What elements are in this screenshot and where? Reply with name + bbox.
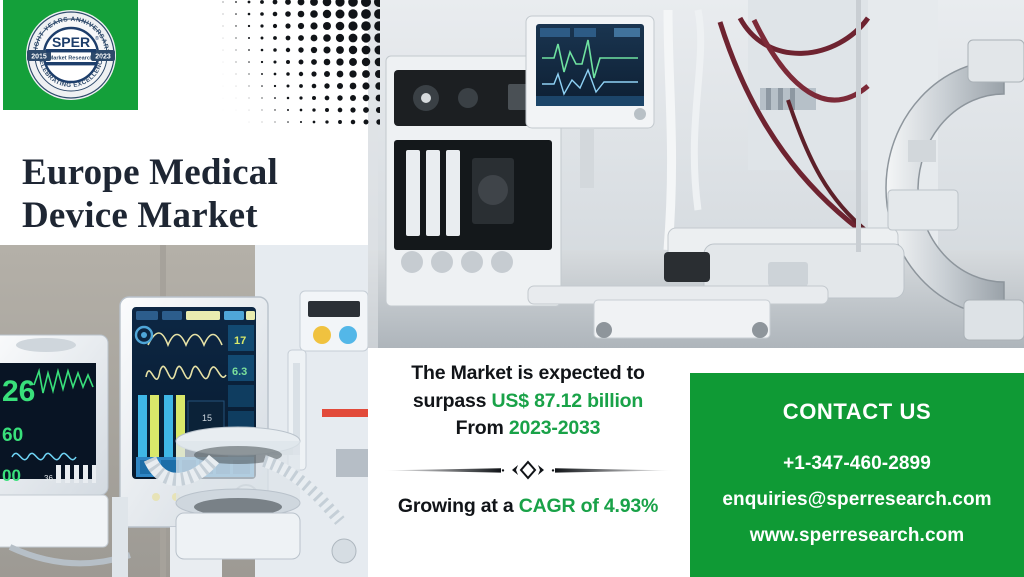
page-title-line-2: Device Market bbox=[22, 195, 258, 236]
svg-text:15: 15 bbox=[202, 413, 212, 423]
svg-text:6.3: 6.3 bbox=[232, 366, 247, 378]
page-title: Europe Medical Device Market bbox=[22, 151, 322, 238]
forecast-period: 2023-2033 bbox=[509, 417, 600, 439]
stat-line-3-prefix: From bbox=[456, 417, 509, 439]
stat-line-3: From 2023-2033 bbox=[378, 415, 678, 443]
stat-line-1: The Market is expected to bbox=[378, 360, 678, 388]
halftone-dot-decoration bbox=[215, 0, 380, 129]
poster-canvas: 2015 2023 EIGHT YEARS ANNIVERSARY CELEBR… bbox=[0, 0, 1024, 577]
market-stats-block: The Market is expected to surpass US$ 87… bbox=[378, 360, 678, 518]
badge-brand-name: SPER bbox=[51, 34, 89, 50]
page-title-line-1: Europe Medical bbox=[22, 152, 278, 193]
patient-monitor-photo: 17 6.3 15 26 60 bbox=[0, 245, 368, 577]
badge-registered-icon: ® bbox=[95, 35, 99, 42]
cagr-value: CAGR of 4.93% bbox=[519, 495, 658, 517]
medical-equipment-photo bbox=[368, 0, 1024, 348]
stat-line-2: surpass US$ 87.12 billion bbox=[378, 388, 678, 416]
contact-phone[interactable]: +1-347-460-2899 bbox=[783, 453, 931, 475]
contact-panel: CONTACT US +1-347-460-2899 enquiries@spe… bbox=[690, 373, 1024, 577]
stat-line-2-prefix: surpass bbox=[413, 390, 492, 412]
sper-logo-block: 2015 2023 EIGHT YEARS ANNIVERSARY CELEBR… bbox=[3, 0, 138, 110]
cagr-line: Growing at a CAGR of 4.93% bbox=[378, 495, 678, 518]
svg-text:00: 00 bbox=[2, 466, 21, 485]
svg-text:60: 60 bbox=[2, 425, 23, 446]
cagr-prefix: Growing at a bbox=[398, 495, 519, 517]
badge-brand-subtitle: Market Research bbox=[48, 56, 93, 62]
market-value: US$ 87.12 billion bbox=[492, 390, 644, 412]
anniversary-badge-icon: 2015 2023 EIGHT YEARS ANNIVERSARY CELEBR… bbox=[25, 9, 117, 101]
svg-text:36: 36 bbox=[44, 474, 53, 483]
svg-text:17: 17 bbox=[234, 335, 246, 347]
contact-website[interactable]: www.sperresearch.com bbox=[750, 525, 965, 547]
svg-text:26: 26 bbox=[2, 375, 35, 408]
ornamental-divider-icon bbox=[383, 459, 673, 481]
contact-heading: CONTACT US bbox=[783, 399, 932, 425]
contact-email[interactable]: enquiries@sperresearch.com bbox=[722, 489, 991, 511]
